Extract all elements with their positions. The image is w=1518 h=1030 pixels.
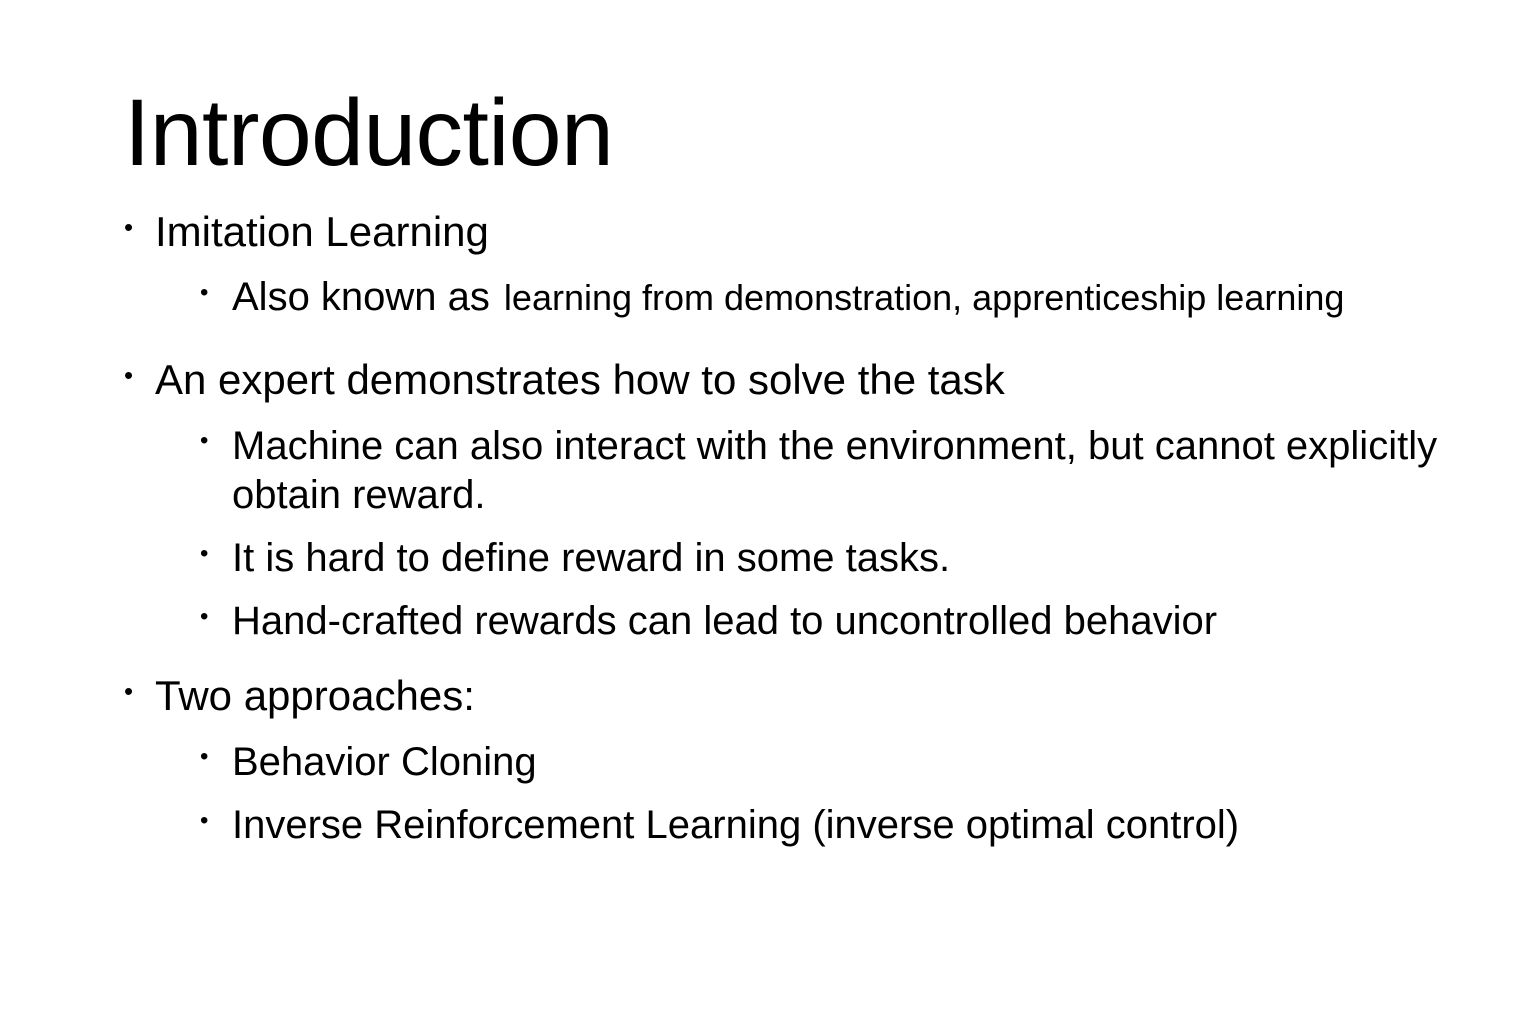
list-item: • It is hard to define reward in some ta… [0,534,1518,583]
list-item-label: Also known aslearning from demonstration… [232,273,1518,322]
list-item-label: It is hard to define reward in some task… [232,534,1518,583]
list-item-label-lead: Also known as [232,275,490,319]
bullet-icon: • [124,678,133,704]
list-item-label: Imitation Learning [155,206,1518,257]
list-item-label: Hand-crafted rewards can lead to uncontr… [232,597,1518,646]
list-item-label-emphasis: learning from demonstration, apprentices… [504,277,1344,318]
spacer [0,789,1518,801]
bullet-icon: • [200,281,208,305]
spacer [0,324,1518,354]
list-item-label: An expert demonstrates how to solve the … [155,354,1518,405]
spacer [0,410,1518,422]
list-item: • Inverse Reinforcement Learning (invers… [0,801,1518,850]
spacer [0,726,1518,738]
list-item: • Hand-crafted rewards can lead to uncon… [0,597,1518,646]
spacer [0,648,1518,670]
list-item: • Also known aslearning from demonstrati… [0,273,1518,322]
list-item-label: Inverse Reinforcement Learning (inverse … [232,801,1518,850]
spacer [0,585,1518,597]
list-item: • Behavior Cloning [0,738,1518,787]
bullet-icon: • [200,542,208,566]
list-item-label: Behavior Cloning [232,738,1518,787]
bullet-icon: • [200,429,208,453]
slide-body: • Imitation Learning • Also known aslear… [0,206,1518,852]
slide: Introduction • Imitation Learning • Also… [0,0,1518,1030]
list-item: • Two approaches: [0,670,1518,721]
list-item-label: Machine can also interact with the envir… [232,422,1518,520]
spacer [0,522,1518,534]
bullet-icon: • [200,605,208,629]
list-item: • An expert demonstrates how to solve th… [0,354,1518,405]
list-item: • Machine can also interact with the env… [0,422,1518,520]
list-item-label: Two approaches: [155,670,1518,721]
bullet-icon: • [124,214,133,240]
bullet-icon: • [124,362,133,388]
spacer [0,261,1518,273]
page-title: Introduction [124,82,1424,185]
bullet-icon: • [200,745,208,769]
bullet-icon: • [200,809,208,833]
list-item: • Imitation Learning [0,206,1518,257]
